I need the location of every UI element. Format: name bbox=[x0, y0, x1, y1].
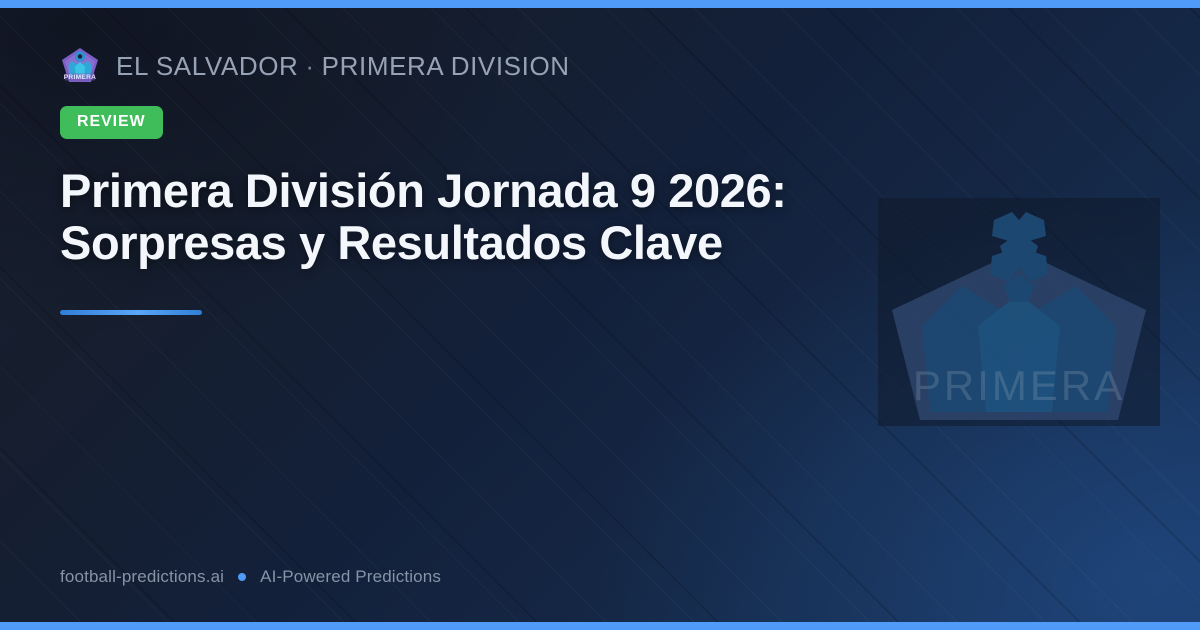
league-header: PRIMERA EL SALVADOR·PRIMERA DIVISION bbox=[60, 46, 1140, 86]
top-accent-bar bbox=[0, 0, 1200, 8]
content-area: PRIMERA EL SALVADOR·PRIMERA DIVISION REV… bbox=[0, 0, 1200, 630]
league-label: PRIMERA DIVISION bbox=[322, 51, 570, 81]
og-card: PRIMERA PRIMERA EL SALVADOR·PR bbox=[0, 0, 1200, 630]
country-label: EL SALVADOR bbox=[116, 51, 298, 81]
svg-text:PRIMERA: PRIMERA bbox=[64, 74, 97, 81]
title-underline-rule bbox=[60, 310, 202, 315]
league-title: EL SALVADOR·PRIMERA DIVISION bbox=[116, 51, 570, 82]
page-title: Primera División Jornada 9 2026: Sorpres… bbox=[60, 165, 940, 268]
separator-dot: · bbox=[298, 51, 321, 81]
status-badge: REVIEW bbox=[60, 106, 163, 139]
primera-division-crest-icon: PRIMERA bbox=[60, 46, 100, 86]
bottom-accent-bar bbox=[0, 622, 1200, 630]
